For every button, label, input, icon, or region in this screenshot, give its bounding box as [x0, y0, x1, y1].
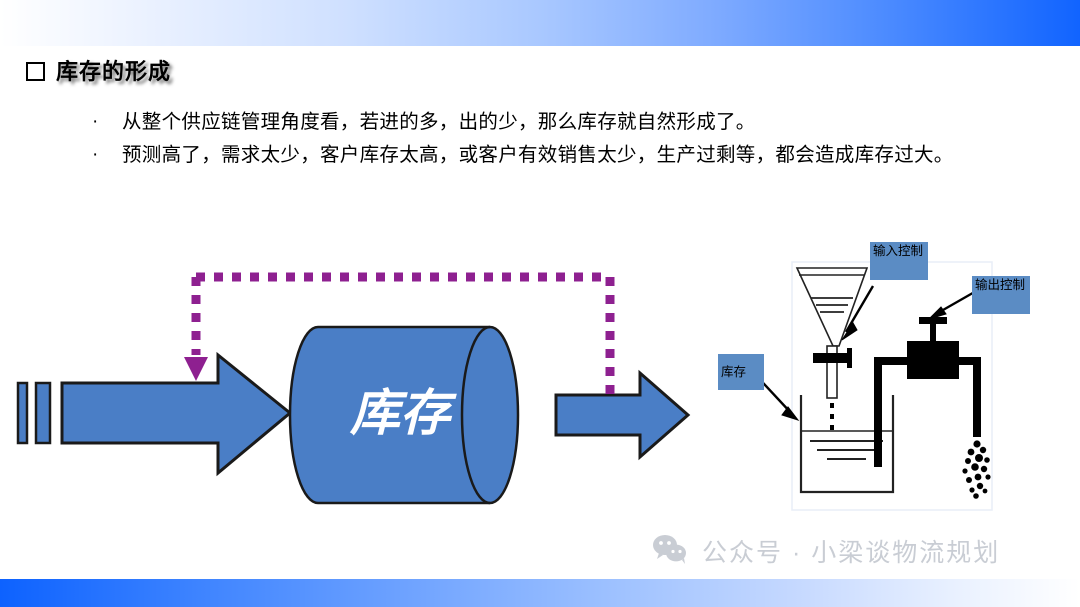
- label-output-control-text: 输出控制: [975, 278, 1027, 293]
- drip-1: [830, 403, 834, 408]
- bottom-gradient-bar: [0, 579, 1080, 607]
- dripping-stream-icon: [830, 403, 834, 430]
- outlet-riser-pipe: [874, 357, 882, 467]
- label-input-control-text: 输入控制: [873, 244, 925, 259]
- page-title: 库存的形成: [26, 54, 171, 86]
- label-output-control: 输出控制: [972, 276, 1030, 314]
- wechat-icon: [652, 534, 688, 569]
- top-gradient-bar: [0, 0, 1080, 46]
- inbound-flow-arrow: [62, 355, 290, 473]
- outlet-downpipe: [973, 357, 981, 437]
- outlet-valve-body: [907, 341, 959, 379]
- drip-3: [830, 425, 834, 430]
- outlet-valve-icon: [907, 317, 959, 379]
- funnel-icon: [797, 268, 867, 398]
- watermark-text: 公众号 · 小梁谈物流规划: [702, 533, 1000, 569]
- outlet-valve-stem: [930, 322, 936, 344]
- inventory-flow-diagram: 库存: [0, 255, 700, 510]
- motion-bar-2: [36, 383, 50, 443]
- tank-control-figure: 输入控制 输出控制 库存: [700, 228, 1060, 523]
- label-input-control: 输入控制: [870, 242, 928, 280]
- list-item: · 从整个供应链管理角度看，若进的多，出的少，那么库存就自然形成了。: [88, 108, 998, 137]
- hollow-square-bullet-icon: [26, 62, 45, 81]
- flow-svg: 库存: [0, 255, 700, 510]
- inlet-valve-knob: [847, 348, 852, 368]
- watermark: 公众号 · 小梁谈物流规划: [652, 533, 1000, 569]
- drip-2: [830, 414, 834, 419]
- bullet-text: 预测高了，需求太少，客户库存太高，或客户有效销售太少，生产过剩等，都会造成库存过…: [122, 141, 954, 170]
- page-title-label: 库存的形成: [56, 54, 171, 86]
- feedback-arrowhead-icon: [184, 357, 208, 381]
- cylinder-label: 库存: [349, 383, 457, 442]
- discharge-spray-icon: [962, 440, 990, 498]
- inlet-valve-handle: [813, 353, 851, 363]
- bullet-text: 从整个供应链管理角度看，若进的多，出的少，那么库存就自然形成了。: [122, 108, 756, 137]
- funnel-cone: [797, 268, 867, 346]
- list-item: · 预测高了，需求太少，客户库存太高，或客户有效销售太少，生产过剩等，都会造成库…: [88, 141, 998, 170]
- label-inventory: 库存: [718, 354, 764, 390]
- bullet-list: · 从整个供应链管理角度看，若进的多，出的少，那么库存就自然形成了。 · 预测高…: [88, 108, 998, 174]
- slide-canvas: 库存的形成 · 从整个供应链管理角度看，若进的多，出的少，那么库存就自然形成了。…: [0, 0, 1080, 607]
- label-inventory-text: 库存: [721, 365, 746, 380]
- outbound-flow-arrow: [556, 373, 688, 457]
- bullet-marker: ·: [88, 141, 122, 169]
- inventory-arrowhead-icon: [782, 407, 798, 420]
- motion-bar-1: [18, 383, 27, 443]
- bullet-marker: ·: [88, 108, 122, 136]
